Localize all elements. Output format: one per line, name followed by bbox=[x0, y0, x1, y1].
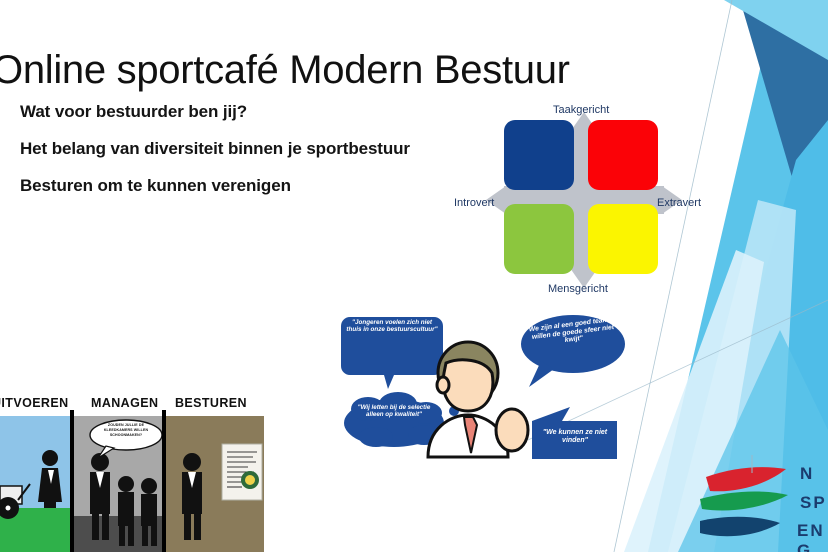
quadrant-square-top-left[interactable] bbox=[504, 120, 574, 190]
logo-text-line-1: N bbox=[800, 464, 814, 484]
governance-cartoon bbox=[0, 388, 264, 552]
person-figure bbox=[428, 342, 528, 457]
logo-text-line-2: SP bbox=[800, 493, 827, 513]
quadrant-square-top-right[interactable] bbox=[588, 120, 658, 190]
bullet-item-2: Het belang van diversiteit binnen je spo… bbox=[20, 139, 410, 159]
logo-text-line-3: EN G bbox=[797, 521, 828, 552]
quadrant-label-bottom: Mensgericht bbox=[548, 283, 608, 295]
cartoon-panel-header-1: UITVOEREN bbox=[0, 396, 69, 410]
bubble-text-top-left: "Jongeren voelen zich niet thuis in onze… bbox=[346, 319, 438, 333]
bullet-item-3: Besturen om te kunnen verenigen bbox=[20, 176, 410, 196]
bubble-text-bottom-left: "Wij letten bij de selectie alleen op kw… bbox=[352, 405, 436, 419]
quadrant-square-bottom-left[interactable] bbox=[504, 204, 574, 274]
bullet-item-1: Wat voor bestuurder ben jij? bbox=[20, 102, 410, 122]
personality-quadrant-diagram: Taakgericht Mensgericht Introvert Extrav… bbox=[448, 104, 718, 304]
quadrant-label-top: Taakgericht bbox=[553, 104, 609, 116]
page-title: Online sportcafé Modern Bestuur bbox=[0, 48, 570, 93]
quadrant-label-right: Extravert bbox=[657, 197, 701, 209]
cartoon-panel-header-2: MANAGEN bbox=[91, 396, 158, 410]
bullet-list: Wat voor bestuurder ben jij? Het belang … bbox=[20, 102, 410, 213]
diversity-illustration: "Jongeren voelen zich niet thuis in onze… bbox=[336, 305, 636, 470]
quadrant-squares bbox=[504, 120, 664, 278]
quadrant-label-left: Introvert bbox=[454, 197, 494, 209]
slide-canvas: Online sportcafé Modern Bestuur Wat voor… bbox=[0, 0, 828, 552]
cartoon-panel-header-3: BESTUREN bbox=[175, 396, 247, 410]
quadrant-square-bottom-right[interactable] bbox=[588, 204, 658, 274]
bubble-text-bottom-right: "We kunnen ze niet vinden" bbox=[538, 429, 612, 445]
cartoon-speech-text: ZOUDEN JULLIE DE KLEEDKAMERS WILLEN SCHO… bbox=[95, 423, 157, 438]
